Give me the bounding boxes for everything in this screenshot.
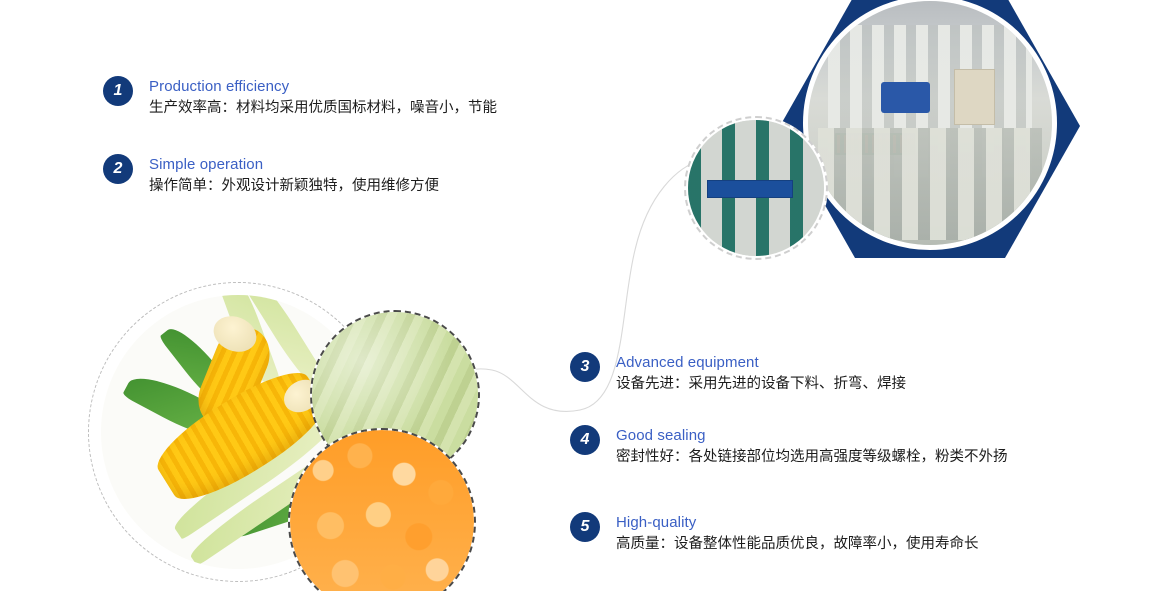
mill-banner [835,133,916,155]
feature-number-badge-4: 4 [570,425,600,455]
factory-secondary-photo [684,116,828,260]
factory-main-photo [803,0,1057,250]
feature-item-5: 5 High-quality 高质量：设备整体性能品质优良，故障率小，使用寿命长 [570,512,979,555]
feature-item-3: 3 Advanced equipment 设备先进：采用先进的设备下料、折弯、焊… [570,352,906,395]
feature-item-1: 1 Production efficiency 生产效率高：材料均采用优质国标材… [103,76,497,119]
feature-number-badge-3: 3 [570,352,600,382]
feature-description-5: 高质量：设备整体性能品质优良，故障率小，使用寿命长 [616,533,979,555]
feature-number-badge-5: 5 [570,512,600,542]
feature-description-4: 密封性好：各处链接部位均选用高强度等级螺栓，粉类不外扬 [616,446,1008,468]
feature-item-2: 2 Simple operation 操作简单：外观设计新颖独特，使用维修方便 [103,154,439,197]
feature-title-5: High-quality [616,513,979,532]
feature-item-4: 4 Good sealing 密封性好：各处链接部位均选用高强度等级螺栓，粉类不… [570,425,1008,468]
feature-description-2: 操作简单：外观设计新颖独特，使用维修方便 [149,175,439,197]
corn-kernels-photo [288,428,476,591]
produce-photo-group [88,282,488,591]
feature-title-1: Production efficiency [149,77,497,96]
feature-number-badge-1: 1 [103,76,133,106]
feature-showcase-page: 1 Production efficiency 生产效率高：材料均采用优质国标材… [0,0,1154,591]
factory-photo-group [680,0,1154,264]
feature-description-1: 生产效率高：材料均采用优质国标材料，噪音小，节能 [149,97,497,119]
feature-number-badge-2: 2 [103,154,133,184]
feature-title-3: Advanced equipment [616,353,906,372]
feature-title-4: Good sealing [616,426,1008,445]
mill-blue-drum [881,82,930,114]
feature-description-3: 设备先进：采用先进的设备下料、折弯、焊接 [616,373,906,395]
mill-tan-panel [954,69,995,125]
feature-title-2: Simple operation [149,155,439,174]
